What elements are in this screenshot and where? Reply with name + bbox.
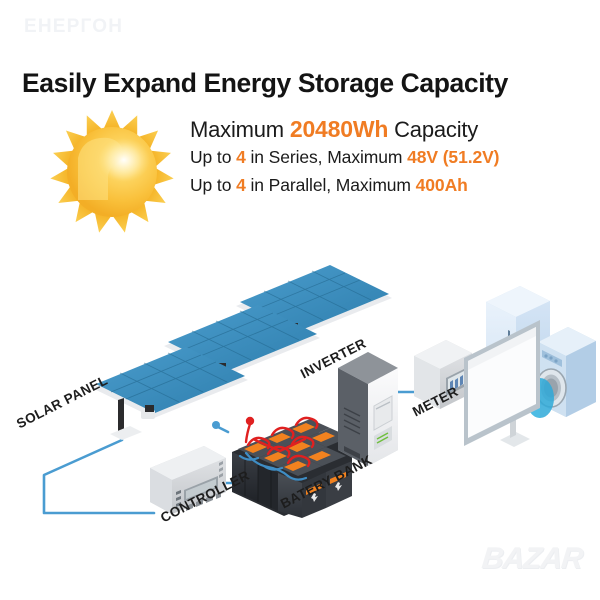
spec-series-voltage: 48V (51.2V) [407, 147, 499, 167]
spec-parallel-count: 4 [236, 175, 246, 195]
page-title: Easily Expand Energy Storage Capacity [22, 68, 508, 99]
spec-series-prefix: Up to [190, 147, 236, 167]
spec-list: Maximum 20480Wh Capacity Up to 4 in Seri… [190, 115, 499, 199]
spec-series-mid: in Series, Maximum [246, 147, 407, 167]
brand-watermark-bottom: BAZAR [480, 542, 584, 576]
spec-parallel: Up to 4 in Parallel, Maximum 400Ah [190, 172, 499, 199]
spec-capacity: Maximum 20480Wh Capacity [190, 115, 499, 144]
spec-capacity-value: 20480Wh [290, 116, 388, 142]
spec-capacity-prefix: Maximum [190, 117, 290, 142]
spec-parallel-current: 400Ah [416, 175, 468, 195]
spec-parallel-prefix: Up to [190, 175, 236, 195]
spec-series-count: 4 [236, 147, 246, 167]
spec-parallel-mid: in Parallel, Maximum [246, 175, 416, 195]
sun-icon [42, 108, 182, 236]
cable-node [212, 421, 220, 429]
spec-capacity-suffix: Capacity [388, 117, 478, 142]
inverter [338, 352, 398, 466]
brand-watermark-top: ЕНЕРГОН [24, 16, 123, 38]
spec-series: Up to 4 in Series, Maximum 48V (51.2V) [190, 144, 499, 171]
